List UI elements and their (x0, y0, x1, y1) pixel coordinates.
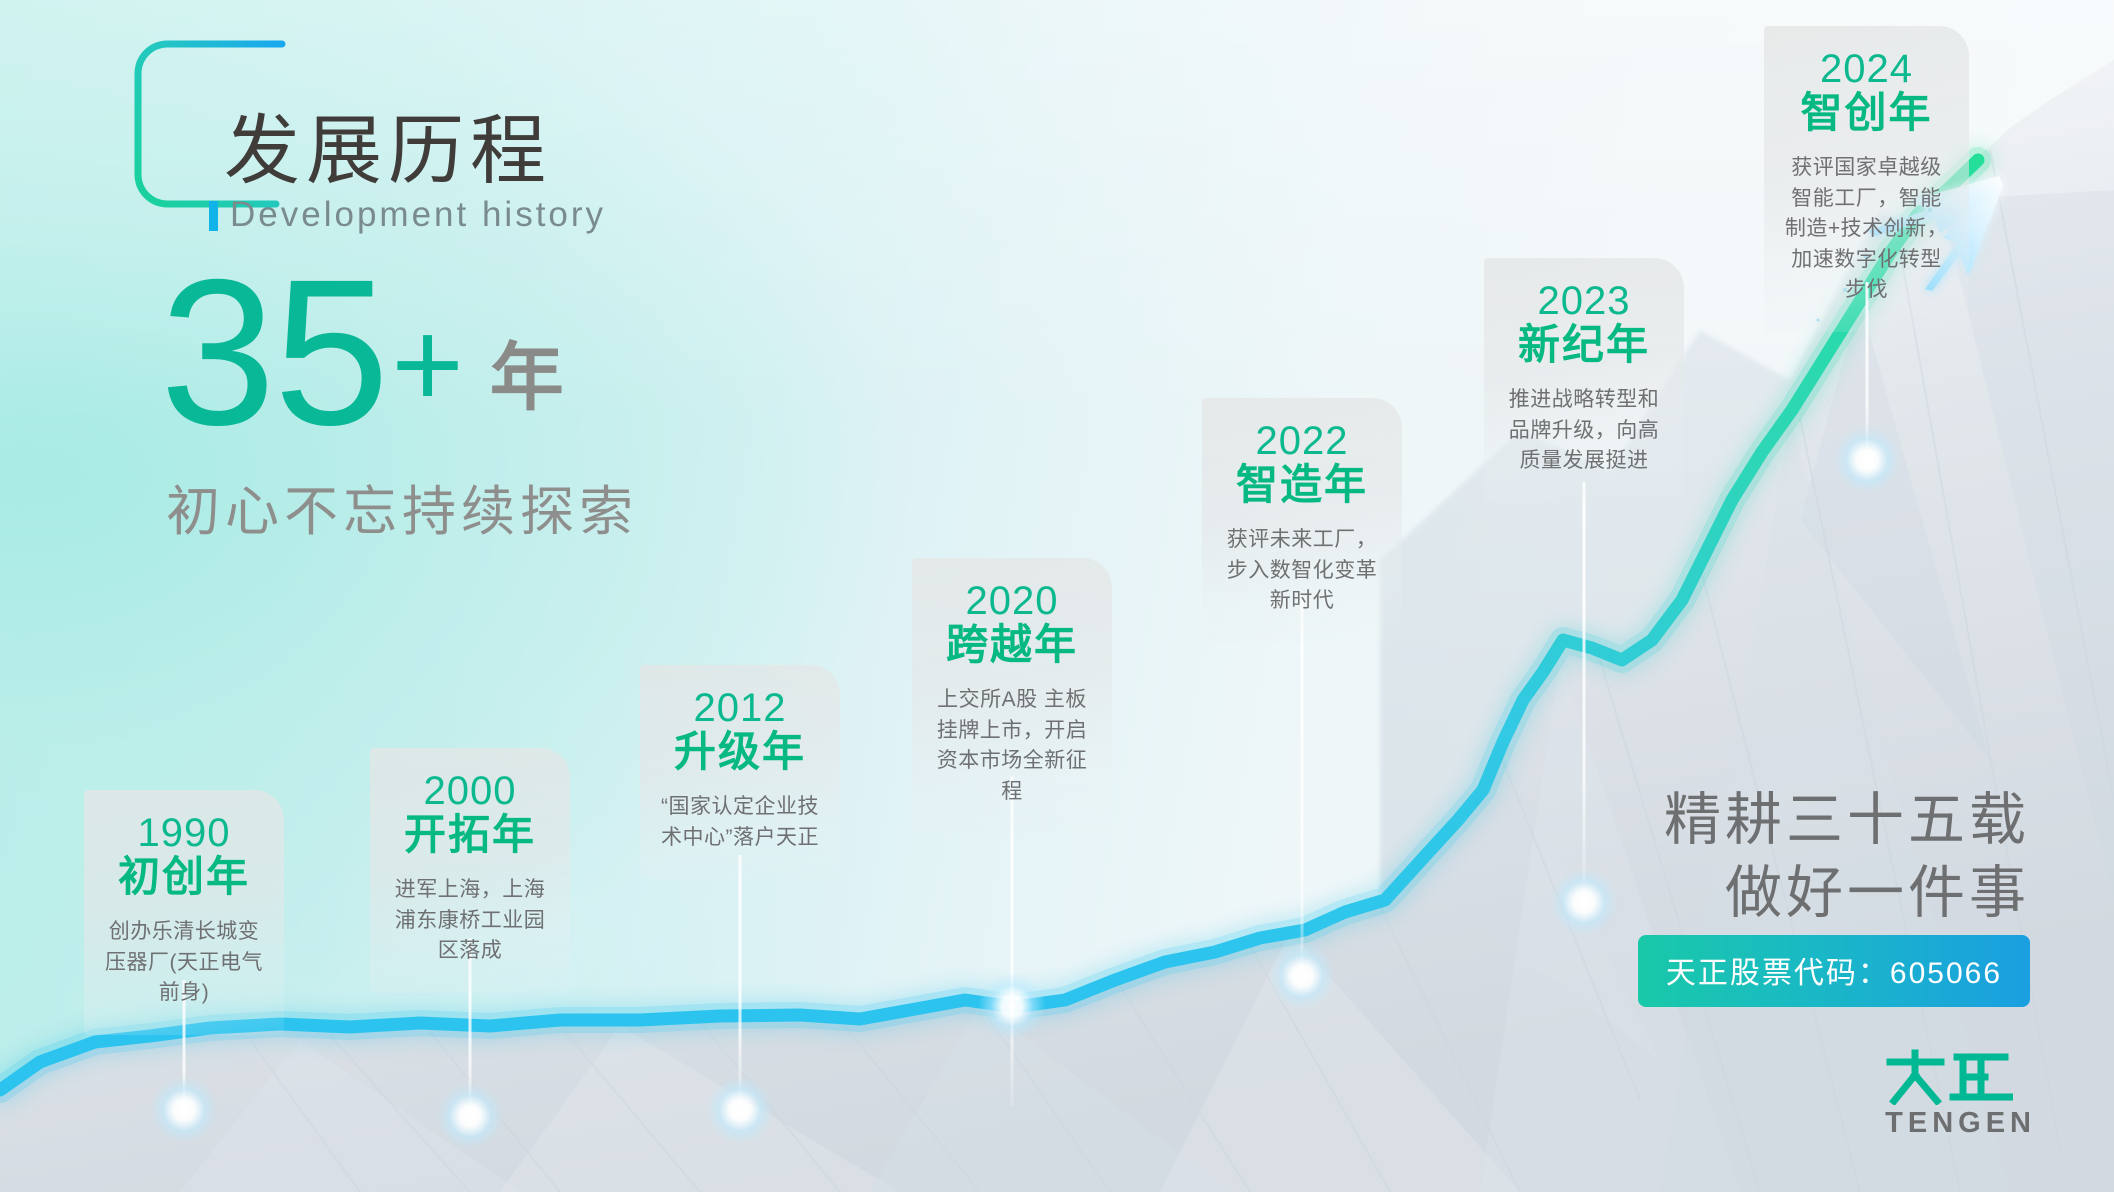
timeline-node-2022[interactable]: 2022 智造年 获评未来工厂，步入数智化变革新时代 (1202, 398, 1402, 643)
slogan-line-1: 精耕三十五载 (1664, 784, 2030, 857)
timeline-glow-dot (1551, 869, 1617, 935)
timeline-card[interactable]: 2022 智造年 获评未来工厂，步入数智化变革新时代 (1202, 398, 1402, 643)
timeline-card[interactable]: 2000 开拓年 进军上海，上海浦东康桥工业园区落成 (370, 748, 570, 993)
timeline-stem (1583, 482, 1586, 902)
timeline-card[interactable]: 1990 初创年 创办乐清长城变压器厂(天正电气前身) (84, 790, 284, 1035)
timeline-tag: 智造年 (1220, 461, 1384, 509)
timeline-card[interactable]: 2024 智创年 获评国家卓越级智能工厂，智能制造+技术创新，加速数字化转型步伐 (1764, 26, 1969, 332)
timeline-year: 2024 (1782, 48, 1951, 91)
timeline-desc: “国家认定企业技术中心”落户天正 (658, 792, 822, 853)
timeline-year: 2000 (388, 770, 552, 813)
years-unit-label: 年 (490, 341, 564, 415)
timeline-glow-dot (1834, 427, 1900, 493)
timeline-year: 2022 (1220, 420, 1384, 463)
title-accent-tick (209, 201, 218, 231)
timeline-stem (1301, 594, 1304, 976)
timeline-tag: 新纪年 (1502, 321, 1666, 369)
timeline-node-2024[interactable]: 2024 智创年 获评国家卓越级智能工厂，智能制造+技术创新，加速数字化转型步伐 (1764, 26, 1969, 332)
timeline-glow-dot (151, 1077, 217, 1143)
timeline-glow-dot (979, 973, 1045, 1039)
company-logo: TENGEN (1885, 1049, 2036, 1140)
page-title: 发展历程 (224, 89, 552, 199)
timeline-stem (739, 855, 742, 1110)
timeline-glow-dot (1269, 943, 1335, 1009)
infographic-canvas: 发展历程 Development history 35 + 年 初心不忘持续探索… (0, 0, 2114, 1192)
years-plus-sign: + (391, 303, 463, 427)
timeline-desc: 推进战略转型和品牌升级，向高质量发展挺进 (1502, 385, 1666, 476)
timeline-card[interactable]: 2023 新纪年 推进战略转型和品牌升级，向高质量发展挺进 (1484, 258, 1684, 503)
timeline-node-2023[interactable]: 2023 新纪年 推进战略转型和品牌升级，向高质量发展挺进 (1484, 258, 1684, 503)
years-stat-block: 35 + 年 初心不忘持续探索 (160, 262, 638, 546)
stock-code-badge: 天正股票代码：605066 (1638, 935, 2030, 1007)
slogan-block: 精耕三十五载 做好一件事 (1664, 784, 2030, 930)
years-subtitle: 初心不忘持续探索 (166, 467, 638, 546)
timeline-node-2012[interactable]: 2012 升级年 “国家认定企业技术中心”落户天正 (640, 665, 840, 879)
timeline-tag: 开拓年 (388, 811, 552, 859)
timeline-card[interactable]: 2012 升级年 “国家认定企业技术中心”落户天正 (640, 665, 840, 879)
timeline-year: 2023 (1502, 280, 1666, 323)
timeline-tag: 初创年 (102, 853, 266, 901)
timeline-desc: 获评未来工厂，步入数智化变革新时代 (1220, 525, 1384, 616)
timeline-tag: 升级年 (658, 728, 822, 776)
timeline-node-2020[interactable]: 2020 跨越年 上交所A股 主板挂牌上市，开启资本市场全新征程 (912, 558, 1112, 833)
timeline-desc: 上交所A股 主板挂牌上市，开启资本市场全新征程 (930, 685, 1094, 807)
slogan-line-2: 做好一件事 (1664, 857, 2030, 930)
timeline-year: 1990 (102, 812, 266, 855)
timeline-node-2000[interactable]: 2000 开拓年 进军上海，上海浦东康桥工业园区落成 (370, 748, 570, 993)
timeline-node-1990[interactable]: 1990 初创年 创办乐清长城变压器厂(天正电气前身) (84, 790, 284, 1035)
timeline-glow-dot (707, 1077, 773, 1143)
timeline-tag: 智创年 (1782, 89, 1951, 137)
timeline-card[interactable]: 2020 跨越年 上交所A股 主板挂牌上市，开启资本市场全新征程 (912, 558, 1112, 833)
logo-wordmark: TENGEN (1885, 1107, 2036, 1140)
timeline-desc: 进军上海，上海浦东康桥工业园区落成 (388, 875, 552, 966)
timeline-glow-dot (437, 1083, 503, 1149)
timeline-tag: 跨越年 (930, 621, 1094, 669)
timeline-desc: 创办乐清长城变压器厂(天正电气前身) (102, 917, 266, 1008)
timeline-desc: 获评国家卓越级智能工厂，智能制造+技术创新，加速数字化转型步伐 (1782, 153, 1951, 305)
timeline-year: 2012 (658, 687, 822, 730)
years-number: 35 (160, 262, 387, 445)
tengen-mark-icon (1885, 1049, 2013, 1105)
timeline-year: 2020 (930, 580, 1094, 623)
page-subtitle: Development history (230, 195, 606, 235)
